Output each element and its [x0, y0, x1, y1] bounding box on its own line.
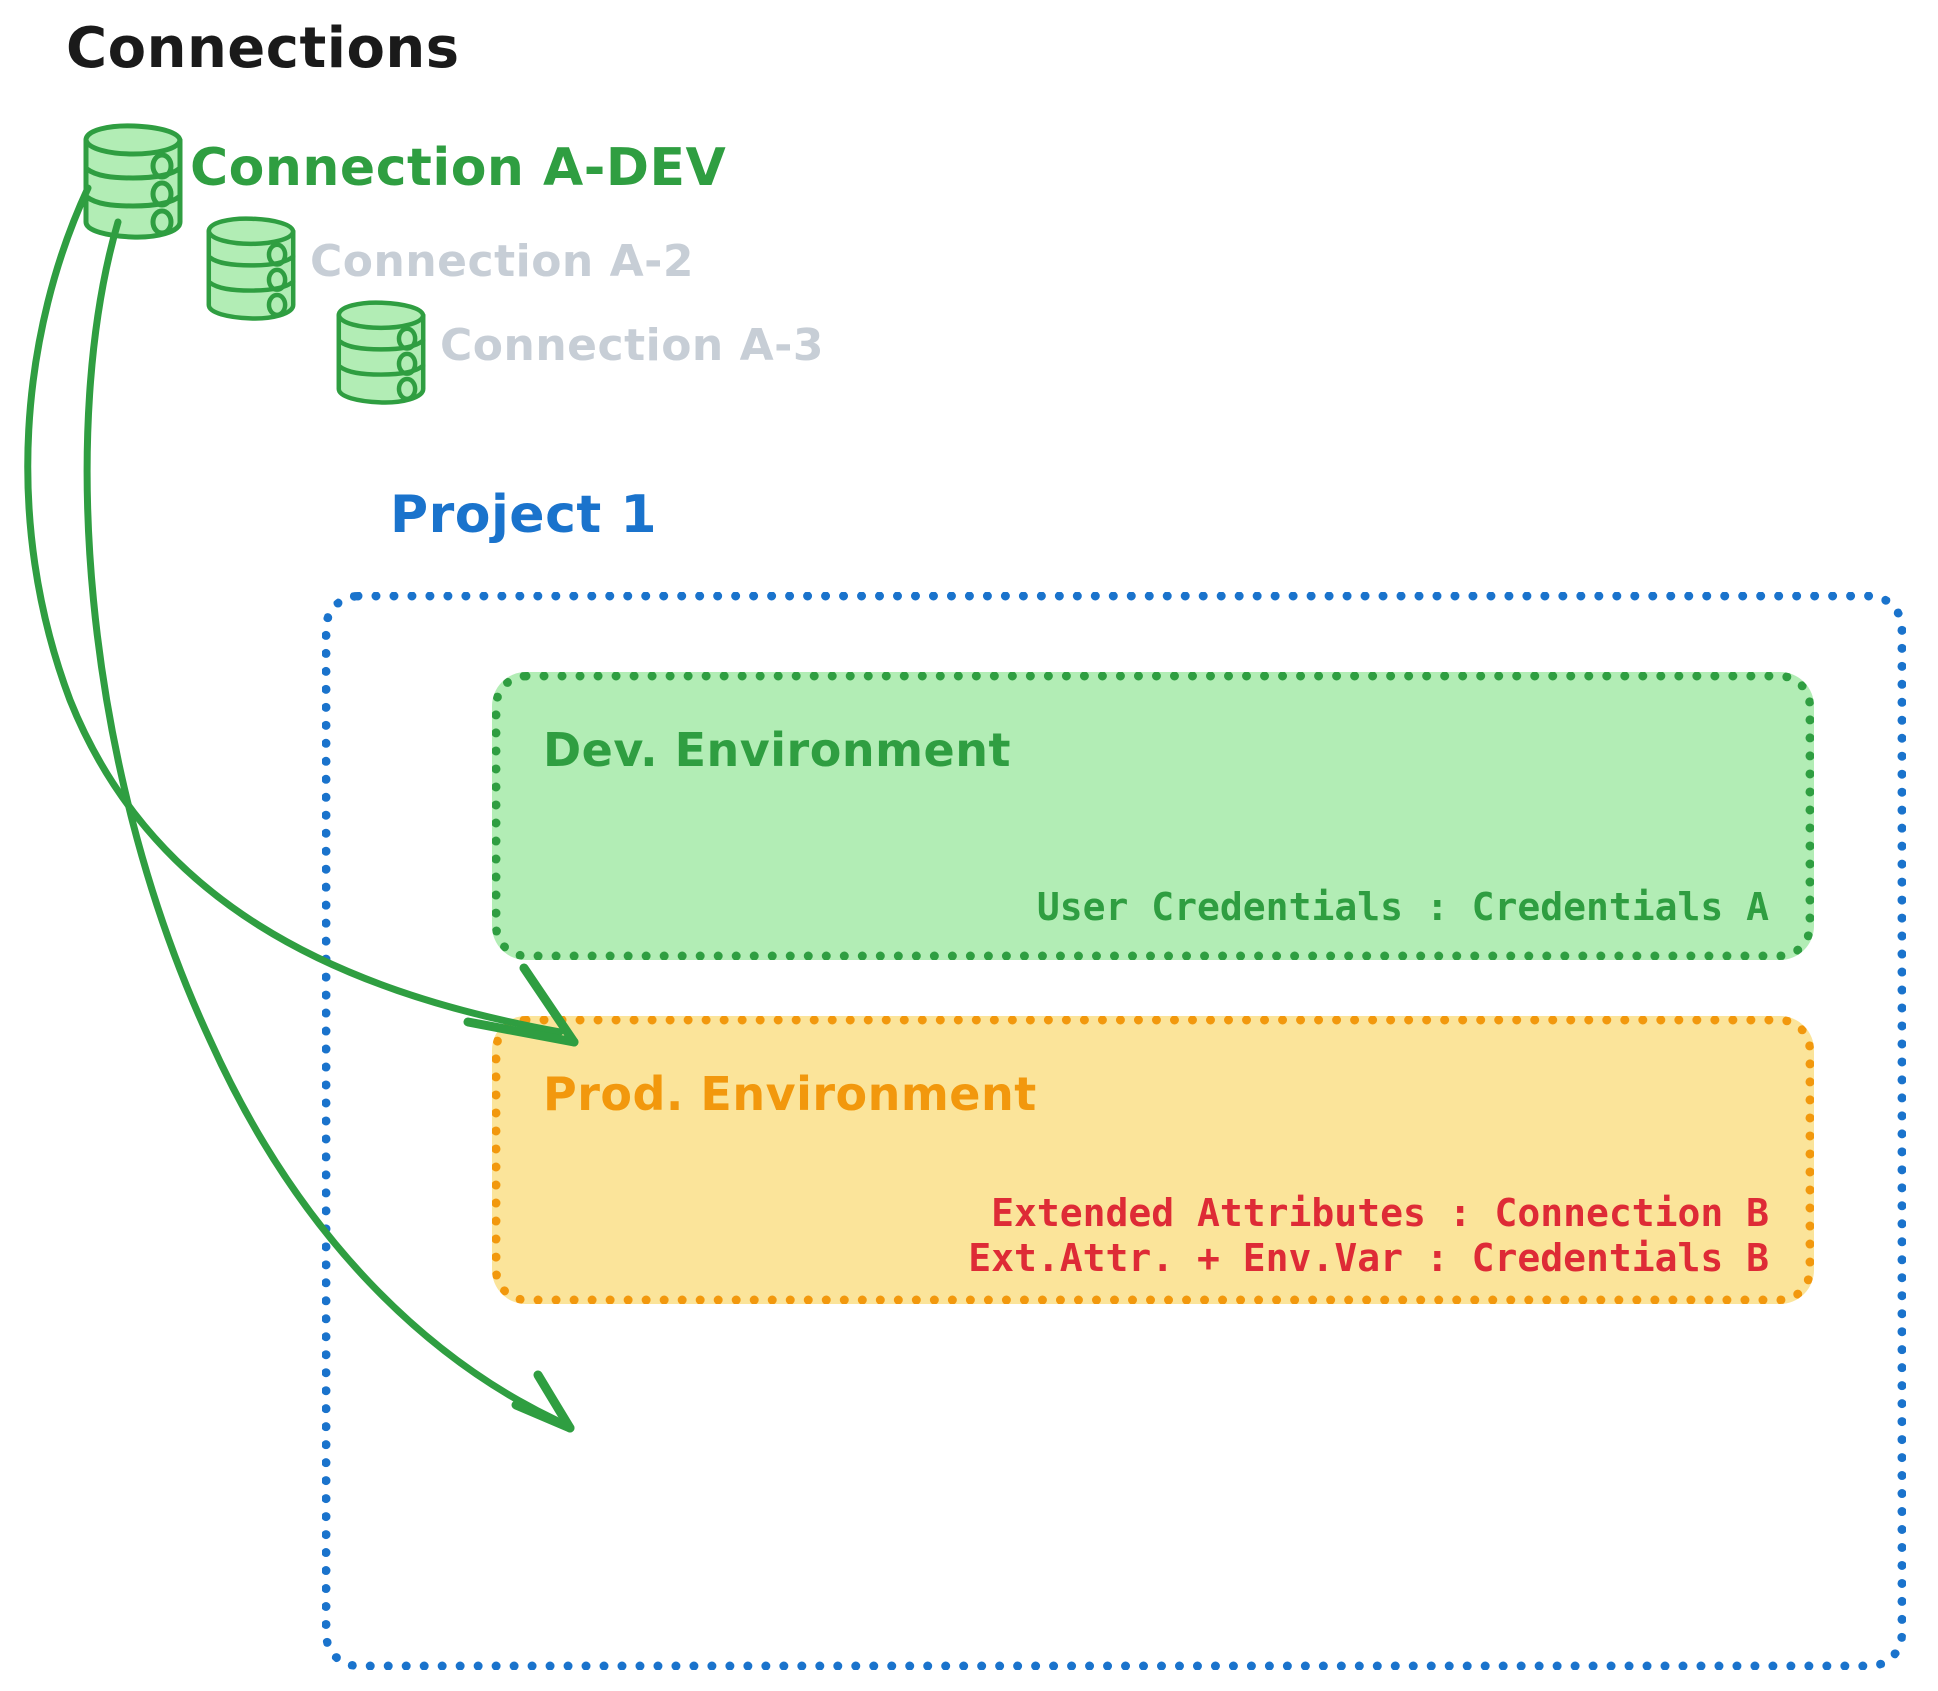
database-icon-conn-a-3[interactable]: [328, 294, 434, 412]
page-title: Connections: [66, 16, 460, 81]
project-title: Project 1: [390, 485, 657, 545]
prod-attributes-block: Extended Attributes : Connection B Ext.A…: [968, 1191, 1769, 1281]
database-icon-conn-a-2[interactable]: [198, 210, 304, 328]
dev-user-credentials-line: User Credentials : Credentials A: [1037, 885, 1769, 929]
prod-env-var-line: Ext.Attr. + Env.Var : Credentials B: [968, 1236, 1769, 1281]
diagram-canvas: Connections: [0, 0, 1938, 1691]
connection-label-a-dev: Connection A-DEV: [190, 138, 726, 198]
connection-label-a-2: Connection A-2: [310, 236, 694, 287]
prod-environment-title: Prod. Environment: [543, 1067, 1037, 1121]
prod-environment-box[interactable]: Prod. Environment Extended Attributes : …: [492, 1016, 1814, 1304]
connection-label-a-3: Connection A-3: [440, 320, 824, 371]
dev-environment-title: Dev. Environment: [543, 723, 1011, 777]
database-icon-conn-a-dev[interactable]: [74, 118, 192, 246]
dev-environment-box[interactable]: Dev. Environment User Credentials : Cred…: [492, 672, 1814, 960]
prod-extended-attributes-line: Extended Attributes : Connection B: [968, 1191, 1769, 1236]
